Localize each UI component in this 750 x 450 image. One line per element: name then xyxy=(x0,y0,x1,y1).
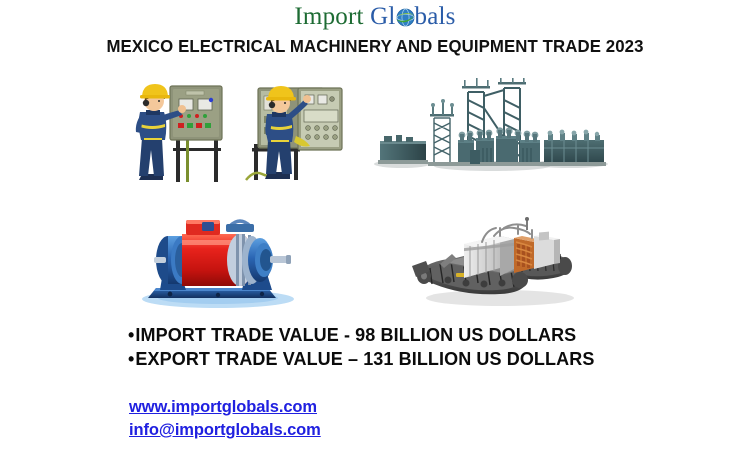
contact-links: www.importglobals.com info@importglobals… xyxy=(129,396,321,442)
image-electrical-substation xyxy=(372,78,612,178)
image-worker-electrical-panel-open xyxy=(238,74,350,186)
export-value-text: EXPORT TRADE VALUE – 131 BILLION US DOLL… xyxy=(135,349,594,369)
poster-canvas: Import Gl bals MEXICO ELECTRICAL MACHINE… xyxy=(0,0,750,450)
list-item-import-value: •IMPORT TRADE VALUE - 98 BILLION US DOLL… xyxy=(128,323,688,347)
website-link[interactable]: www.importglobals.com xyxy=(129,396,321,419)
brand-logo: Import Gl bals xyxy=(0,2,750,32)
list-item-export-value: •EXPORT TRADE VALUE – 131 BILLION US DOL… xyxy=(128,347,688,371)
trade-values-list: •IMPORT TRADE VALUE - 98 BILLION US DOLL… xyxy=(128,323,688,371)
globe-icon xyxy=(396,8,415,27)
logo-text-gl: Gl xyxy=(370,3,395,30)
page-title: MEXICO ELECTRICAL MACHINERY AND EQUIPMEN… xyxy=(15,36,735,57)
bullet-marker: • xyxy=(128,325,134,345)
logo-text-bals: bals xyxy=(415,3,456,30)
bullet-marker: • xyxy=(128,349,134,369)
image-electric-motor-pump xyxy=(126,204,304,312)
image-worker-electrical-panel-closed xyxy=(118,76,226,184)
image-tracked-crawler-machine xyxy=(408,206,584,310)
logo-text-import: Import xyxy=(294,3,363,30)
import-value-text: IMPORT TRADE VALUE - 98 BILLION US DOLLA… xyxy=(135,325,576,345)
email-link[interactable]: info@importglobals.com xyxy=(129,419,321,442)
